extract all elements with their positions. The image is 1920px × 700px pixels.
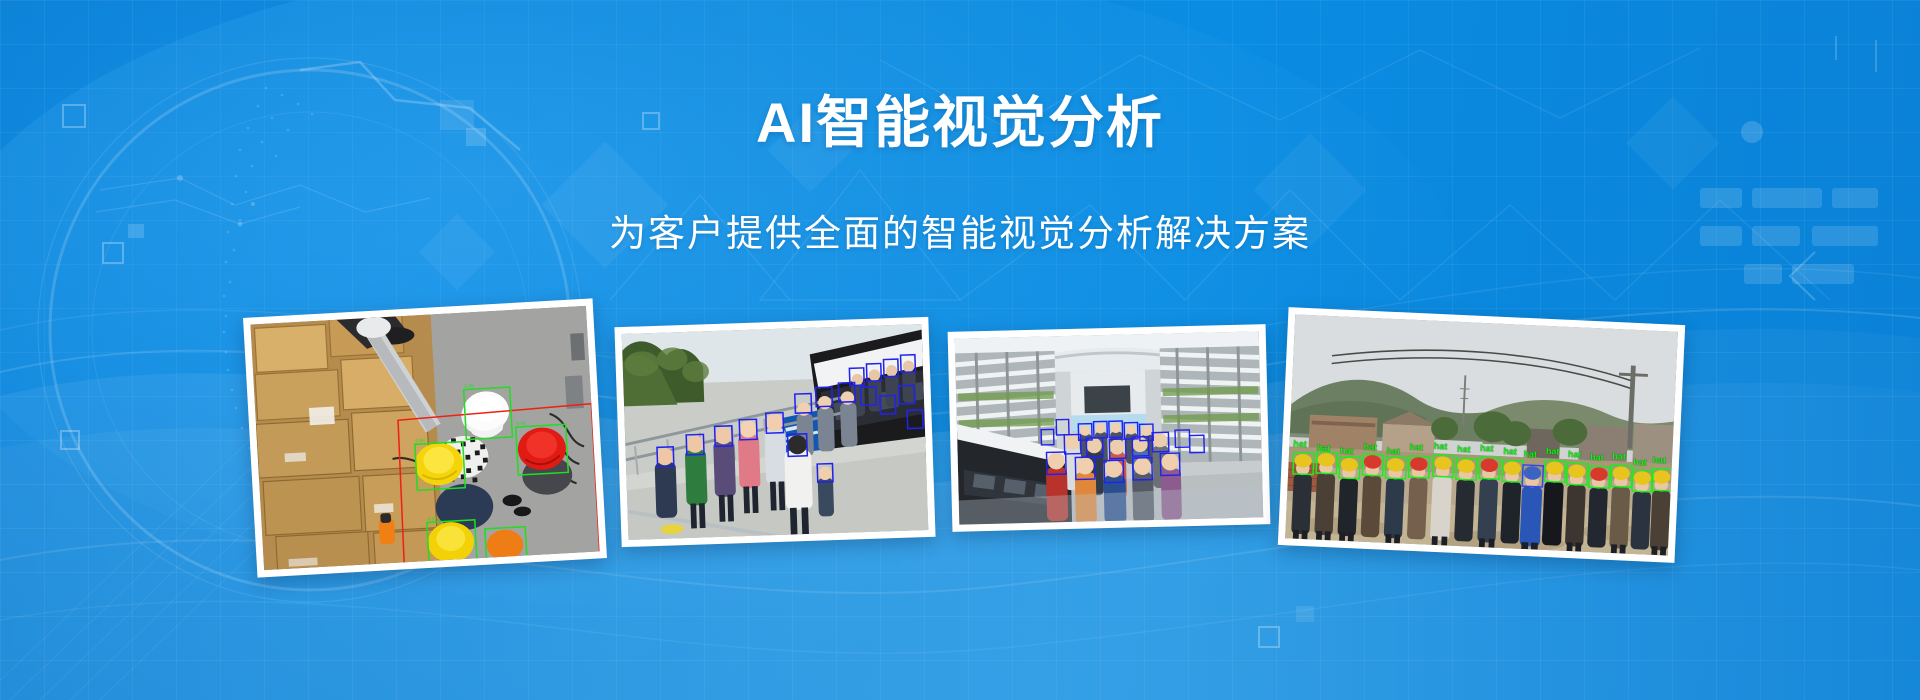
hat-label: hat — [1340, 447, 1354, 457]
hat-label: hat — [1457, 445, 1471, 455]
hat-label: hat — [1434, 442, 1448, 452]
gallery-photo-bridge-crowd-face-detection[interactable] — [614, 317, 935, 547]
page-title: AI智能视觉分析 — [0, 95, 1920, 151]
hat-label: hat — [1546, 447, 1560, 457]
hat-label: hat — [1590, 453, 1604, 463]
warehouse-helmet-scene: 0.99 0.98 0.96 0.97 — [250, 306, 599, 570]
svg-text:0.97: 0.97 — [427, 516, 437, 523]
hat-label: hat — [1409, 443, 1423, 453]
photo-4-inner: hat hat hat hat hat hat hat hat hat hat … — [1285, 314, 1678, 555]
hat-label: hat — [1503, 447, 1517, 457]
svg-text:0.96: 0.96 — [516, 421, 526, 428]
hat-label: hat — [1652, 456, 1666, 466]
bridge-crowd-scene — [622, 324, 929, 540]
hat-label: hat — [1480, 444, 1494, 454]
page-subtitle: 为客户提供全面的智能视觉分析解决方案 — [0, 215, 1920, 252]
photo-gallery: 0.99 0.98 0.96 0.97 — [250, 300, 1680, 590]
photo-2-inner — [622, 324, 929, 540]
svg-text:0.98: 0.98 — [415, 438, 425, 445]
hat-label: hat — [1293, 440, 1307, 450]
hat-label: hat — [1633, 458, 1647, 468]
station-platform-scene — [955, 331, 1263, 524]
photo-3-inner — [955, 331, 1263, 524]
gallery-photo-warehouse-helmet-detection[interactable]: 0.99 0.98 0.96 0.97 — [243, 298, 607, 577]
gallery-photo-outdoor-group-hat-detection[interactable]: hat hat hat hat hat hat hat hat hat hat … — [1278, 307, 1685, 563]
hat-label: hat — [1386, 446, 1400, 456]
gallery-photo-station-platform-crowd-detection[interactable] — [948, 324, 1271, 532]
hat-label: hat — [1612, 452, 1626, 462]
outdoor-group-hat-scene — [1285, 314, 1678, 555]
photo-1-inner: 0.99 0.98 0.96 0.97 — [250, 306, 599, 570]
hat-label: hat — [1568, 450, 1582, 460]
svg-text:0.99: 0.99 — [464, 383, 474, 390]
hat-label: hat — [1317, 443, 1331, 453]
hat-label: hat — [1523, 450, 1537, 460]
hat-label: hat — [1363, 443, 1377, 453]
banner-content: AI智能视觉分析 为客户提供全面的智能视觉分析解决方案 — [0, 0, 1920, 700]
hero-banner: AI智能视觉分析 为客户提供全面的智能视觉分析解决方案 — [0, 0, 1920, 700]
